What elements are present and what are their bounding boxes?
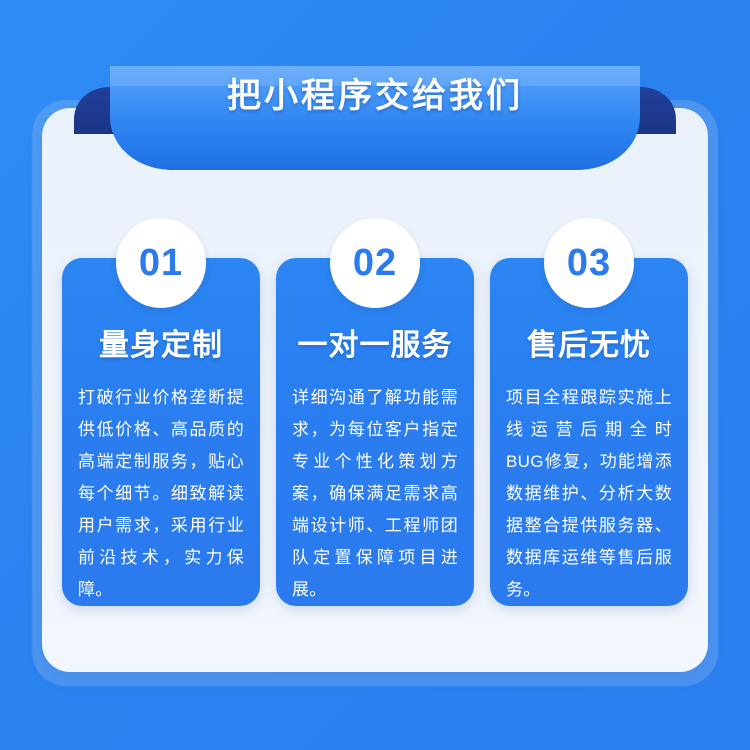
feature-card[interactable]: 02 一对一服务 详细沟通了解功能需求，为每位客户指定专业个性化策划方案，确保满… bbox=[276, 258, 474, 606]
feature-card-list: 01 量身定制 打破行业价格垄断提供低价格、高品质的高端定制服务，贴心每个细节。… bbox=[62, 258, 688, 606]
card-title: 一对一服务 bbox=[290, 320, 460, 364]
card-title: 量身定制 bbox=[76, 320, 246, 364]
feature-card[interactable]: 01 量身定制 打破行业价格垄断提供低价格、高品质的高端定制服务，贴心每个细节。… bbox=[62, 258, 260, 606]
card-body-text: 项目全程跟踪实施上线运营后期全时 BUG修复，功能增添数据维护、分析大数据整合提… bbox=[504, 382, 674, 606]
feature-card[interactable]: 03 售后无忧 项目全程跟踪实施上线运营后期全时 BUG修复，功能增添数据维护、… bbox=[490, 258, 688, 606]
card-title: 售后无忧 bbox=[504, 320, 674, 364]
card-number-text: 01 bbox=[139, 244, 183, 282]
card-number-badge: 01 bbox=[116, 218, 206, 308]
page-title: 把小程序交给我们 bbox=[0, 68, 750, 117]
poster-root: 把小程序交给我们 01 量身定制 打破行业价格垄断提供低价格、高品质的高端定制服… bbox=[0, 0, 750, 750]
card-body-text: 详细沟通了解功能需求，为每位客户指定专业个性化策划方案，确保满足需求高端设计师、… bbox=[290, 382, 460, 606]
card-number-text: 03 bbox=[567, 244, 611, 282]
card-number-text: 02 bbox=[353, 244, 397, 282]
card-body-text: 打破行业价格垄断提供低价格、高品质的高端定制服务，贴心每个细节。细致解读用户需求… bbox=[76, 382, 246, 606]
card-number-badge: 02 bbox=[330, 218, 420, 308]
card-number-badge: 03 bbox=[544, 218, 634, 308]
